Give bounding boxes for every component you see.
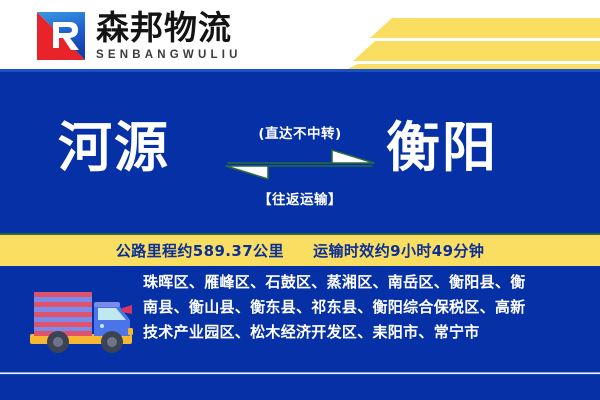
route-info-bar: 公路里程约589.37公里 运输时效约9小时49分钟 [0,233,600,266]
header-stripe-decoration [0,0,600,72]
brand-wordmark: 森邦物流 SENBANGWULIU [96,10,296,62]
logistics-route-banner: 森邦物流 SENBANGWULIU 河源 衡阳 (直达不中转) 【往返运输】 公… [0,0,600,400]
banner-header: 森邦物流 SENBANGWULIU [0,0,600,72]
coverage-line: 南县、衡山县、衡东县、祁东县、衡阳综合保税区、高新 [143,295,591,320]
coverage-line: 珠晖区、雁峰区、石鼓区、蒸湘区、南岳区、衡阳县、衡 [143,270,591,295]
brand-name-cn: 森邦物流 [96,10,296,46]
coverage-line: 技术产业园区、松木经济开发区、耒阳市、常宁市 [143,320,591,345]
route-info-text: 公路里程约589.37公里 运输时效约9小时49分钟 [116,240,484,261]
brand-name-en: SENBANGWULIU [96,48,296,62]
brand-logo-icon [33,8,89,64]
bottom-fill [0,375,600,400]
delivery-truck-icon [26,284,138,356]
duration-value: 运输时效约9小时49分钟 [313,242,484,260]
distance-value: 公路里程约589.37公里 [116,242,284,260]
bidirectional-arrow-icon [224,146,376,182]
direct-service-note: (直达不中转) [0,122,600,142]
roundtrip-note: 【往返运输】 [0,188,600,208]
coverage-area-list: 珠晖区、雁峰区、石鼓区、蒸湘区、南岳区、衡阳县、衡 南县、衡山县、衡东县、祁东县… [143,270,591,345]
